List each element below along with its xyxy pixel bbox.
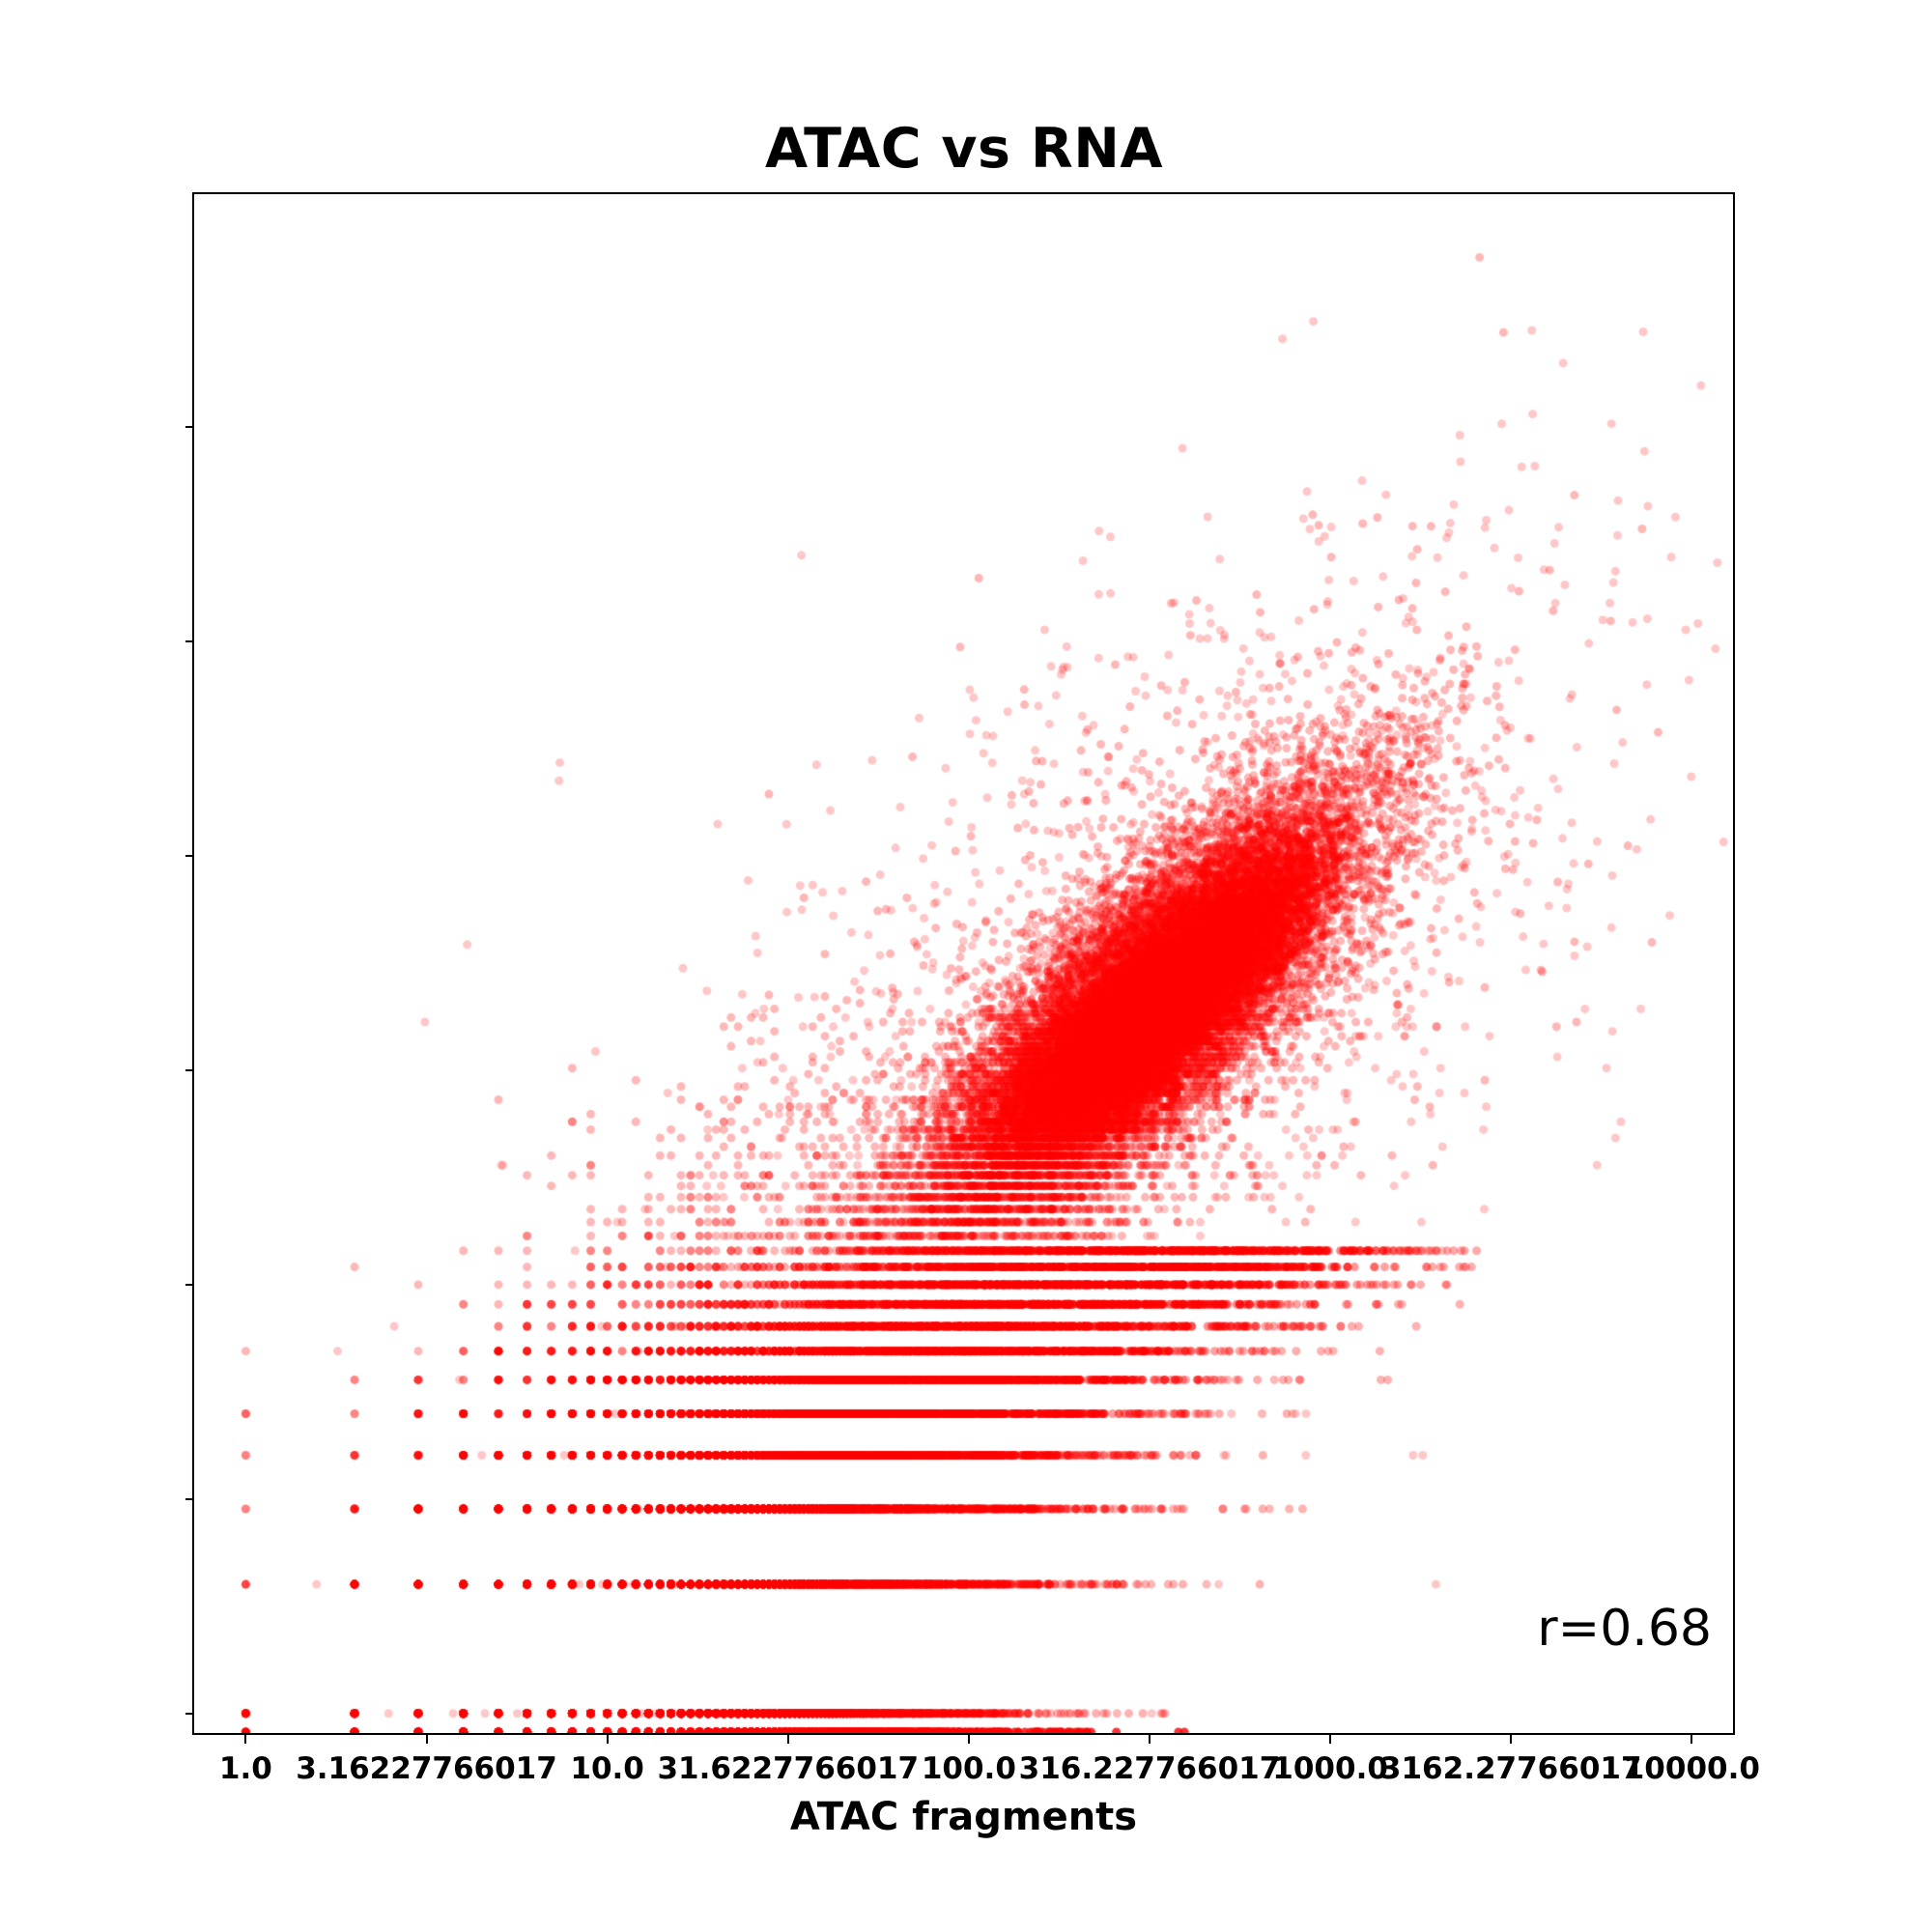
x-tick-label: 1000.0 bbox=[1272, 1750, 1388, 1787]
x-tick-label: 10.0 bbox=[570, 1750, 644, 1787]
x-tick-mark bbox=[607, 1735, 609, 1744]
y-tick-mark bbox=[185, 1713, 194, 1715]
y-tick-mark bbox=[185, 1284, 194, 1286]
x-tick-mark bbox=[1510, 1735, 1512, 1744]
scatter-points-canvas bbox=[194, 194, 1733, 1733]
x-tick-label: 3162.27766017 bbox=[1380, 1750, 1642, 1787]
x-axis-label: ATAC fragments bbox=[192, 1795, 1735, 1839]
x-tick-mark bbox=[1329, 1735, 1331, 1744]
correlation-annotation: r=0.68 bbox=[1537, 1600, 1712, 1658]
scatter-figure: ATAC vs RNA r=0.68 1.03.1622776601710.03… bbox=[0, 0, 1932, 1932]
page-title: ATAC vs RNA bbox=[193, 118, 1735, 180]
plot-area: r=0.68 bbox=[192, 192, 1735, 1735]
x-tick-label: 1.0 bbox=[219, 1750, 272, 1787]
x-tick-label: 316.227766017 bbox=[1019, 1750, 1281, 1787]
y-tick-mark bbox=[185, 640, 194, 642]
x-tick-mark bbox=[1149, 1735, 1151, 1744]
x-tick-mark bbox=[968, 1735, 970, 1744]
x-tick-label: 3.16227766017 bbox=[296, 1750, 557, 1787]
y-tick-mark bbox=[185, 1498, 194, 1500]
x-tick-label: 31.6227766017 bbox=[657, 1750, 919, 1787]
y-tick-mark bbox=[185, 855, 194, 857]
y-tick-mark bbox=[185, 426, 194, 428]
y-tick-mark bbox=[185, 1069, 194, 1071]
x-tick-label: 100.0 bbox=[922, 1750, 1016, 1787]
x-tick-label: 10000.0 bbox=[1624, 1750, 1760, 1787]
x-tick-mark bbox=[426, 1735, 428, 1744]
x-tick-mark bbox=[1690, 1735, 1692, 1744]
x-tick-mark bbox=[244, 1735, 246, 1744]
x-tick-mark bbox=[787, 1735, 789, 1744]
